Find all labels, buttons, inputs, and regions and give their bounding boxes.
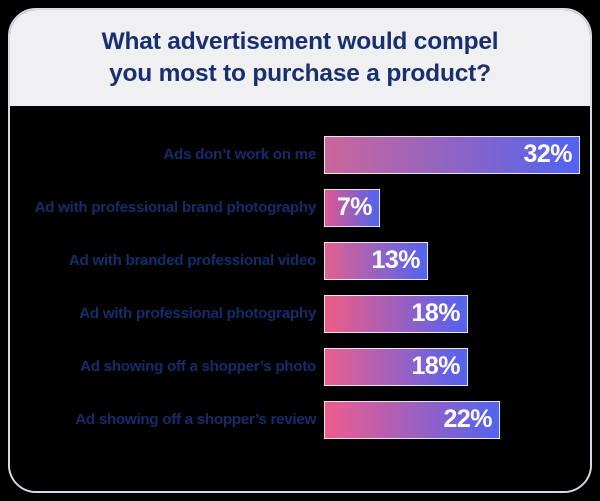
bar-value-label: 7% <box>337 195 379 220</box>
bar-fill: 22% <box>324 401 500 439</box>
page-title: What advertisement would compel you most… <box>102 26 499 91</box>
bar-track: 18% <box>324 340 590 393</box>
bar-track: 22% <box>324 393 590 446</box>
bar-row: Ad showing off a shopper’s photo18% <box>10 340 590 393</box>
bar-value-label: 18% <box>411 301 467 326</box>
bar-fill: 32% <box>324 136 580 174</box>
bar-row: Ad with professional photography18% <box>10 287 590 340</box>
bar-fill: 18% <box>324 295 468 333</box>
chart-plot-area: Ads don’t work on me32%Ad with professio… <box>10 106 590 491</box>
bar-value-label: 32% <box>523 142 579 167</box>
bar-category-label: Ads don’t work on me <box>10 146 324 163</box>
bar-category-label: Ad showing off a shopper’s review <box>10 411 324 428</box>
bar-category-label: Ad with professional photography <box>10 305 324 322</box>
bar-category-label: Ad with professional brand photography <box>10 199 324 216</box>
bar-track: 32% <box>324 128 590 181</box>
bar-track: 18% <box>324 287 590 340</box>
bar-value-label: 18% <box>411 354 467 379</box>
bar-category-label: Ad showing off a shopper’s photo <box>10 358 324 375</box>
bar-fill: 18% <box>324 348 468 386</box>
bar-row: Ad with branded professional video13% <box>10 234 590 287</box>
chart-card: What advertisement would compel you most… <box>8 8 592 493</box>
bar-fill: 13% <box>324 242 428 280</box>
bar-value-label: 13% <box>371 248 427 273</box>
bar-track: 13% <box>324 234 590 287</box>
chart-header: What advertisement would compel you most… <box>10 10 590 106</box>
bar-track: 7% <box>324 181 590 234</box>
bar-list: Ads don’t work on me32%Ad with professio… <box>10 128 590 446</box>
bar-row: Ads don’t work on me32% <box>10 128 590 181</box>
bar-category-label: Ad with branded professional video <box>10 252 324 269</box>
bar-row: Ad with professional brand photography7% <box>10 181 590 234</box>
bar-row: Ad showing off a shopper’s review22% <box>10 393 590 446</box>
bar-value-label: 22% <box>443 407 499 432</box>
bar-fill: 7% <box>324 189 380 227</box>
